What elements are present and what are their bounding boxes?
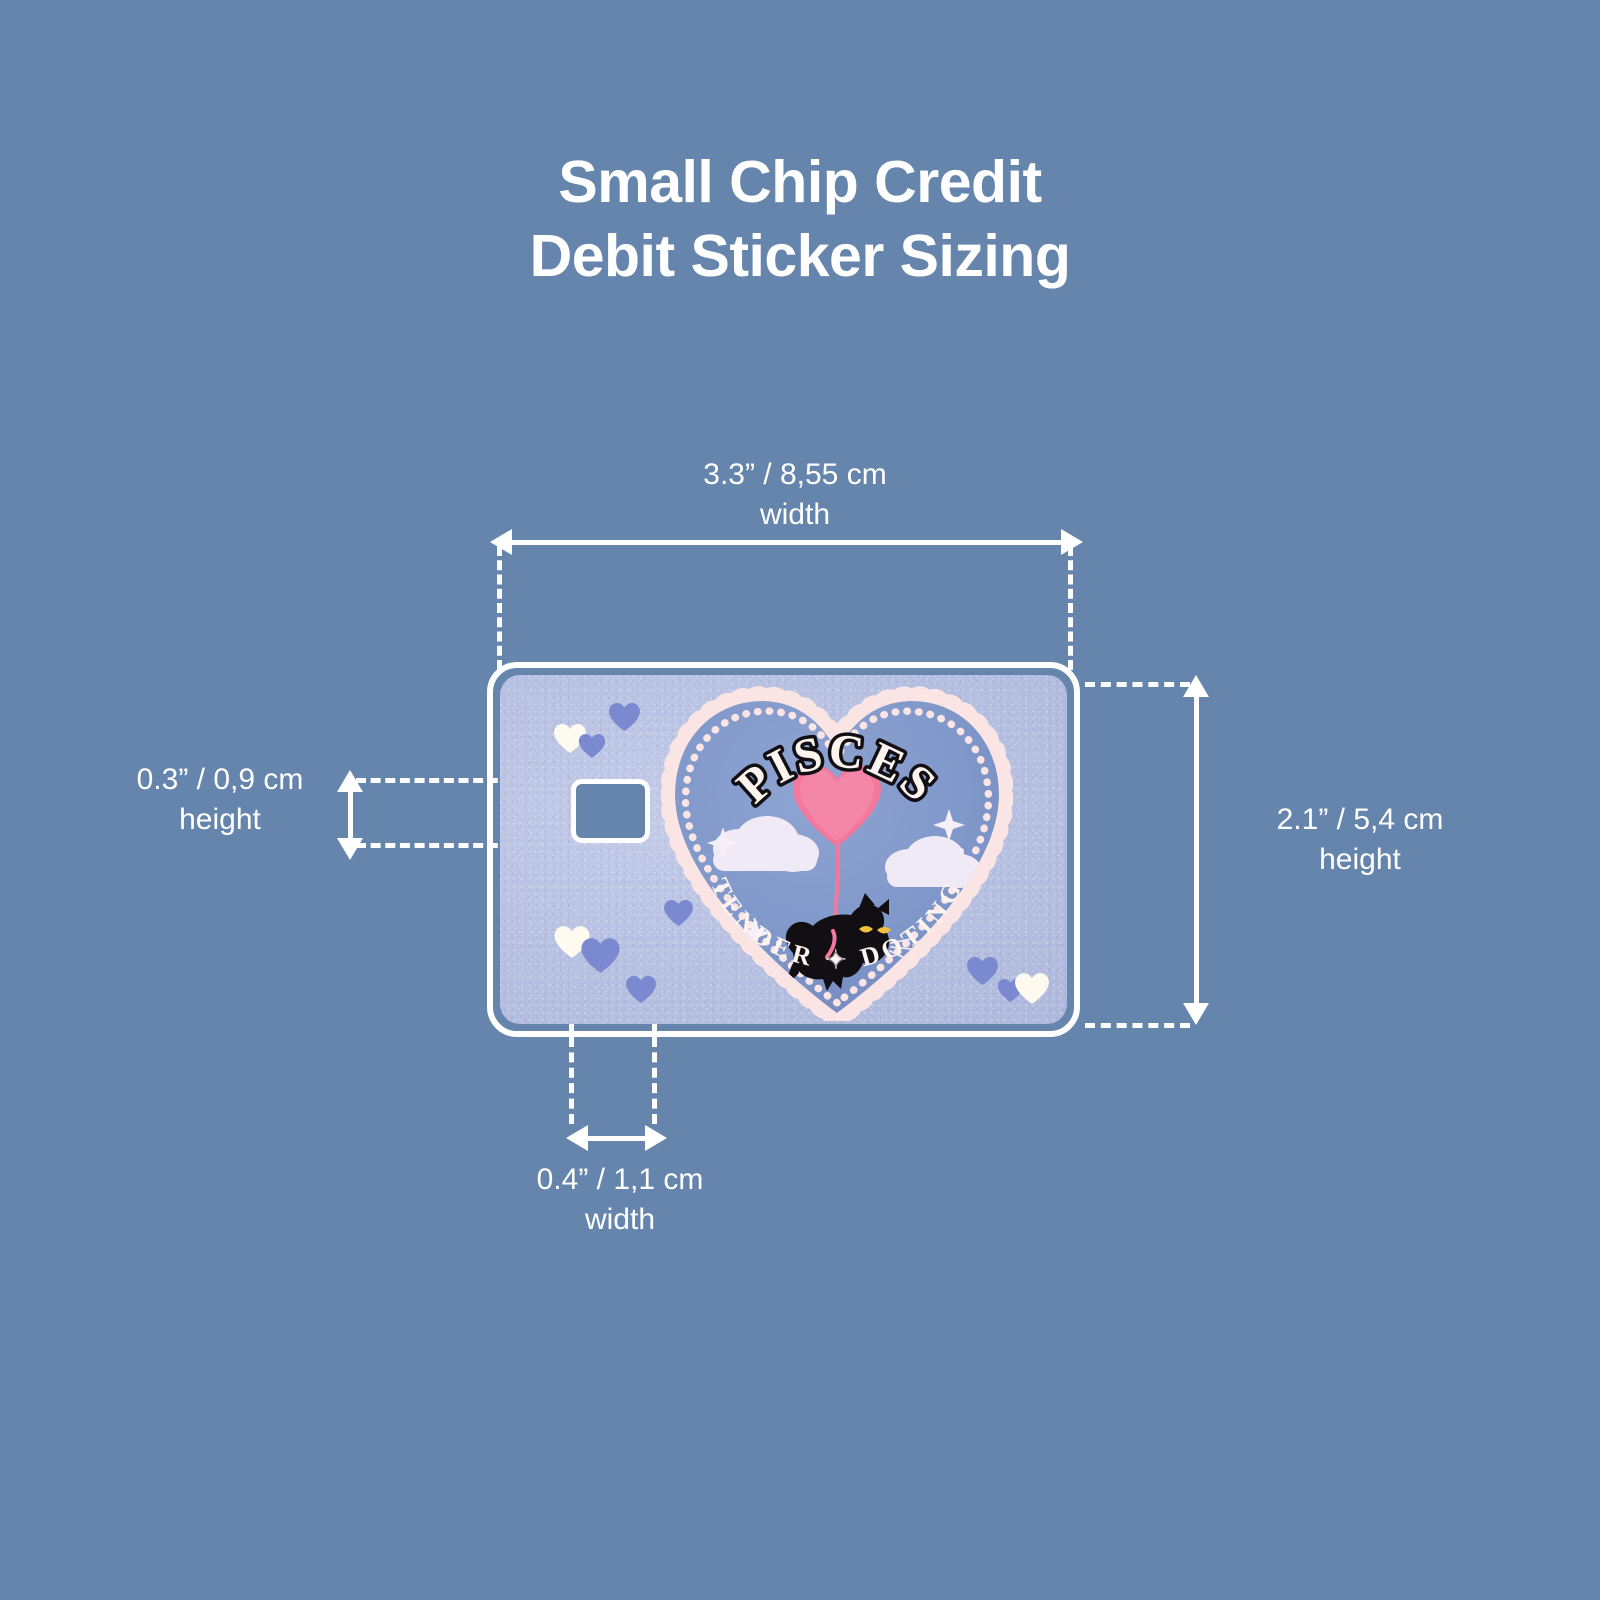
dimension-label-bottom-width: 0.4” / 1,1 cm width [490,1160,750,1240]
dimension-right-axis: height [1215,840,1505,880]
dimension-top-extension-right [1068,546,1073,670]
dimension-bottom-arrow-line [584,1136,647,1141]
page-title: Small Chip Credit Debit Sticker Sizing [0,145,1600,294]
page-title-line-2: Debit Sticker Sizing [0,219,1600,293]
dimension-label-right-height: 2.1” / 5,4 cm height [1215,800,1505,880]
dimension-left-value: 0.3” / 0,9 cm [137,763,304,796]
sparkle-dot-right [958,848,964,854]
dimension-right-extension-bottom [1085,1023,1190,1028]
zodiac-heart-emblem: PISCES PISCES TENDER ✦ DOTING [661,681,1013,1021]
page-title-line-1: Small Chip Credit [0,145,1600,219]
confetti-heart-blue-bottom-2 [625,975,657,1004]
confetti-heart-blue-bottom [580,937,621,974]
dimension-right-arrow-line [1194,695,1199,1005]
dimension-left-arrow-down [337,838,363,860]
confetti-heart-white-right [1014,972,1050,1005]
dimension-bottom-axis: width [490,1200,750,1240]
dimension-right-extension-top [1085,682,1190,687]
card-sticker-preview[interactable]: PISCES PISCES TENDER ✦ DOTING [500,675,1067,1024]
dimension-bottom-arrow-right [645,1125,667,1151]
dimension-top-extension-left [497,546,502,670]
dimension-label-left-height: 0.3” / 0,9 cm height [95,760,345,840]
dimension-label-top-width: 3.3” / 8,55 cm width [610,455,980,535]
dimension-right-arrow-down [1183,1003,1209,1025]
chip-cutout [571,779,650,843]
confetti-heart-blue-top [608,702,641,732]
dimension-bottom-value: 0.4” / 1,1 cm [537,1163,704,1196]
dimension-top-value: 3.3” / 8,55 cm [703,458,886,491]
dimension-left-axis: height [95,800,345,840]
dimension-top-axis: width [610,495,980,535]
dimension-top-arrow-line [508,540,1063,545]
dimension-bottom-arrow-left [566,1125,588,1151]
dimension-right-value: 2.1” / 5,4 cm [1277,803,1444,836]
dimension-left-arrow-line [348,790,353,840]
confetti-heart-blue-top-small [578,733,606,759]
